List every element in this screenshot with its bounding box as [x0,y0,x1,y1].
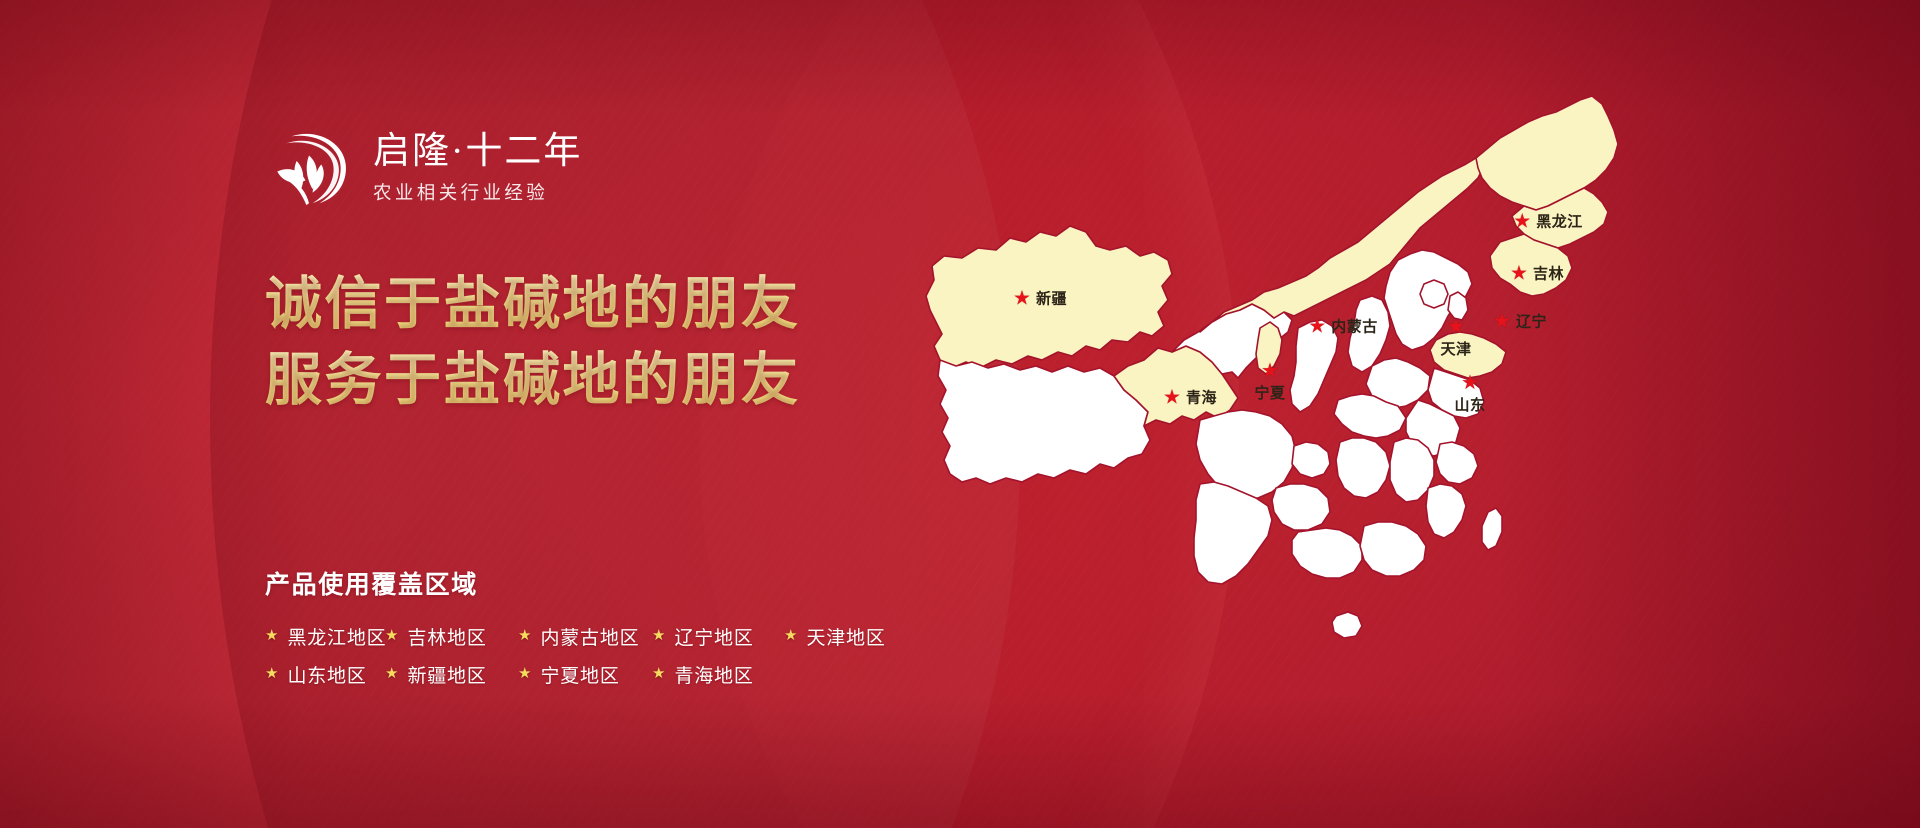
coverage-item: ★ 内蒙古地区 [518,623,652,650]
headline-line-1: 诚信于盐碱地的朋友 [265,267,801,343]
province-heilongjiang [1476,96,1618,210]
coverage-item-label: 山东地区 [287,661,366,688]
star-icon: ★ [1513,211,1531,231]
star-icon: ★ [385,629,398,644]
china-map: ★ 黑龙江 ★ 吉林 ★ 辽宁 ★ 内蒙古 ★ 天津 ★ 山东 ★ 宁夏 ★ 新 [900,60,1700,780]
star-icon: ★ [265,629,278,644]
province-hainan [1332,612,1362,638]
star-icon: ★ [1510,263,1528,283]
coverage-item: ★ 青海地区 [652,661,754,688]
map-marker-label: 辽宁 [1516,311,1547,332]
coverage-list: ★ 黑龙江地区 ★ 吉林地区 ★ 内蒙古地区 ★ 辽宁地区 [265,623,886,688]
star-icon: ★ [1447,317,1465,337]
map-marker-label: 黑龙江 [1536,211,1583,232]
coverage-item: ★ 黑龙江地区 [265,623,385,650]
star-icon: ★ [1013,288,1031,308]
province-guangxi [1292,528,1362,578]
headline-block: 诚信于盐碱地的朋友 服务于盐碱地的朋友 [265,267,801,420]
coverage-item: ★ 新疆地区 [385,661,518,688]
province-hunan [1336,438,1390,498]
province-taiwan [1482,508,1502,550]
headline-line-2: 服务于盐碱地的朋友 [265,343,801,419]
coverage-item-label: 宁夏地区 [540,661,619,688]
map-marker-qinghai[interactable]: ★ 青海 [1163,387,1217,408]
province-beijing [1420,280,1448,308]
star-icon: ★ [652,629,665,644]
map-marker-label: 青海 [1186,387,1217,408]
province-guangdong [1360,522,1426,576]
star-icon: ★ [1261,361,1279,381]
star-icon: ★ [652,667,665,682]
coverage-block: 产品使用覆盖区域 ★ 黑龙江地区 ★ 吉林地区 ★ 内蒙古地区 [265,565,886,688]
map-marker-inner-mongolia[interactable]: ★ 内蒙古 [1308,316,1377,337]
map-marker-shandong[interactable]: ★ 山东 [1454,373,1485,415]
brand-text: 启隆·十二年 农业相关行业经验 [373,131,582,205]
coverage-title: 产品使用覆盖区域 [265,565,886,601]
coverage-item-label: 辽宁地区 [674,623,753,650]
map-marker-label: 山东 [1454,394,1485,415]
coverage-item-label: 内蒙古地区 [540,623,639,650]
star-icon: ★ [518,629,531,644]
coverage-item: ★ 天津地区 [784,623,886,650]
map-marker-label: 宁夏 [1254,382,1285,403]
promo-banner: 启隆·十二年 农业相关行业经验 诚信于盐碱地的朋友 服务于盐碱地的朋友 产品使用… [0,0,1920,828]
coverage-row: ★ 黑龙江地区 ★ 吉林地区 ★ 内蒙古地区 ★ 辽宁地区 [265,623,886,650]
coverage-item: ★ 吉林地区 [385,623,518,650]
coverage-row: ★ 山东地区 ★ 新疆地区 ★ 宁夏地区 ★ 青海地区 [265,661,886,688]
map-marker-liaoning[interactable]: ★ 辽宁 [1493,311,1547,332]
coverage-item-label: 黑龙江地区 [287,623,386,650]
star-icon: ★ [385,667,398,682]
province-chongqing [1292,442,1330,478]
brand-subtitle: 农业相关行业经验 [373,179,582,205]
coverage-item: ★ 山东地区 [265,661,385,688]
map-marker-jilin[interactable]: ★ 吉林 [1510,263,1564,284]
map-marker-tianjin[interactable]: ★ 天津 [1440,317,1471,359]
coverage-item: ★ 辽宁地区 [652,623,784,650]
map-marker-label: 内蒙古 [1331,316,1378,337]
star-icon: ★ [1461,373,1479,393]
map-marker-heilongjiang[interactable]: ★ 黑龙江 [1513,211,1582,232]
brand-title: 启隆·十二年 [373,131,582,172]
province-guizhou [1272,484,1330,530]
coverage-item-label: 吉林地区 [407,623,486,650]
brand-lockup: 启隆·十二年 农业相关行业经验 [265,124,582,212]
coverage-item-label: 新疆地区 [407,661,486,688]
lotus-leaf-circle-logo-icon [265,124,353,212]
map-marker-label: 天津 [1440,338,1471,359]
star-icon: ★ [1308,316,1326,336]
map-marker-xinjiang[interactable]: ★ 新疆 [1013,288,1067,309]
star-icon: ★ [1493,311,1511,331]
map-marker-ningxia[interactable]: ★ 宁夏 [1254,361,1285,403]
star-icon: ★ [518,667,531,682]
star-icon: ★ [784,629,797,644]
star-icon: ★ [1163,387,1181,407]
coverage-item-label: 青海地区 [674,661,753,688]
province-fujian [1426,484,1466,538]
map-marker-label: 新疆 [1036,288,1067,309]
coverage-item: ★ 宁夏地区 [518,661,652,688]
province-zhejiang [1436,442,1478,484]
star-icon: ★ [265,667,278,682]
coverage-item-label: 天津地区 [806,623,885,650]
china-map-svg [900,60,1700,780]
map-marker-label: 吉林 [1533,263,1564,284]
